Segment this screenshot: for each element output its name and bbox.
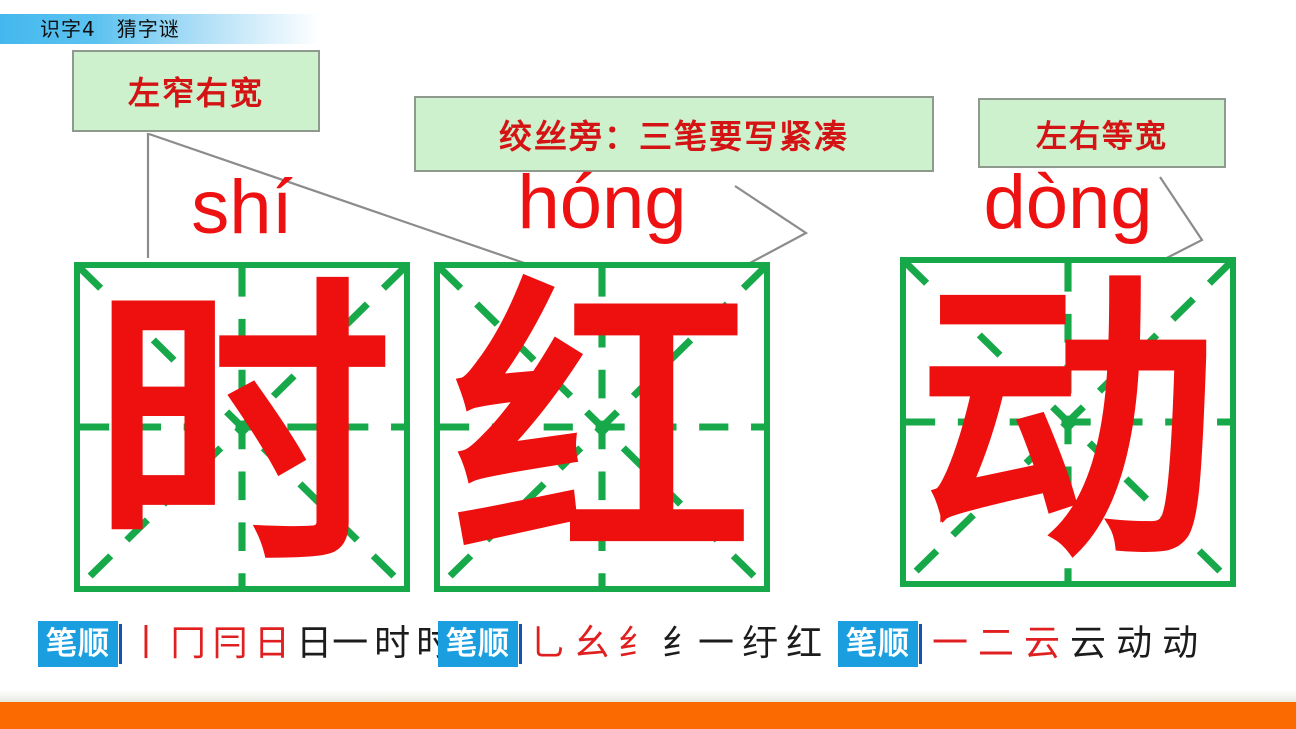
- stroke-step: 丨: [128, 622, 164, 666]
- stroke-step: 动: [1162, 622, 1198, 666]
- mizige-grid: 红: [434, 262, 770, 592]
- stroke-step-list: 乚 幺 纟 纟一 纡 红: [522, 622, 822, 666]
- annotation-text: 左右等宽: [1036, 111, 1168, 156]
- stroke-step: 二: [978, 622, 1014, 666]
- pinyin-label: shí: [74, 170, 410, 246]
- stroke-step: 冃: [212, 622, 248, 666]
- stroke-order-badge: 笔顺: [438, 621, 518, 667]
- annotation-box-equal-width: 左右等宽: [978, 98, 1226, 168]
- stroke-step: 纡: [742, 622, 778, 666]
- pinyin-label: hóng: [434, 165, 770, 241]
- stroke-order-badge: 笔顺: [838, 621, 918, 667]
- stroke-step: 乚: [530, 622, 566, 666]
- hanzi-glyph: 动: [906, 263, 1230, 581]
- stroke-step: 云: [1070, 622, 1106, 666]
- pinyin-label: dòng: [900, 165, 1236, 241]
- stroke-step: 一: [932, 622, 968, 666]
- mizige-grid: 时: [74, 262, 410, 592]
- hanzi-glyph: 时: [80, 268, 404, 586]
- stroke-step: 纟一: [662, 622, 734, 666]
- stroke-order-row-dong: 笔顺 一 二 云 云 动 动: [838, 620, 1198, 668]
- stroke-step: 红: [786, 622, 822, 666]
- stroke-step-list: 丨 冂 冃 日 日一 时 时: [122, 622, 452, 666]
- stroke-step: 纟: [618, 622, 654, 666]
- footer-gradient: [0, 690, 1296, 702]
- stroke-order-row-hong: 笔顺 乚 幺 纟 纟一 纡 红: [438, 620, 822, 668]
- stroke-step: 动: [1116, 622, 1152, 666]
- annotation-text: 绞丝旁：三笔要写紧凑: [499, 110, 849, 158]
- stroke-step: 日一: [296, 622, 368, 666]
- footer-bar: [0, 702, 1296, 729]
- annotation-box-left-narrow-right-wide: 左窄右宽: [72, 50, 320, 132]
- stroke-step: 云: [1024, 622, 1060, 666]
- mizige-grid: 动: [900, 257, 1236, 587]
- stroke-step: 日: [254, 622, 290, 666]
- stroke-order-row-shi: 笔顺 丨 冂 冃 日 日一 时 时: [38, 620, 452, 668]
- stroke-step: 幺: [574, 622, 610, 666]
- stroke-step-list: 一 二 云 云 动 动: [922, 622, 1198, 666]
- annotation-text: 左窄右宽: [128, 68, 264, 114]
- stroke-step: 冂: [170, 622, 206, 666]
- stroke-order-badge: 笔顺: [38, 621, 118, 667]
- stroke-step: 时: [374, 622, 410, 666]
- hanzi-glyph: 红: [440, 268, 764, 586]
